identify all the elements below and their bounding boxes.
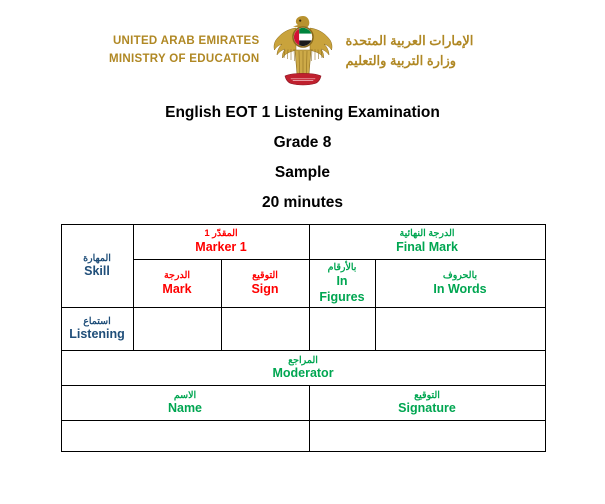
entry-moderator-name-cell[interactable] bbox=[61, 421, 309, 452]
marks-table: المهارة Skill المقدّر 1 Marker 1 الدرجة … bbox=[61, 224, 546, 452]
header-mark-ar: الدرجة bbox=[137, 270, 218, 282]
header-moderator-en: Moderator bbox=[65, 366, 542, 382]
table-row-listening: استماع Listening bbox=[61, 308, 545, 351]
header-in-words: بالحروف In Words bbox=[375, 260, 545, 308]
uae-emblem-icon bbox=[272, 14, 334, 88]
header-moderator-signature-ar: التوقيع bbox=[313, 390, 542, 402]
header-mark: الدرجة Mark bbox=[133, 260, 221, 308]
exam-grade: Grade 8 bbox=[0, 134, 605, 151]
header-marker-ar: المقدّر 1 bbox=[137, 228, 306, 240]
row-label-listening-en: Listening bbox=[65, 327, 130, 343]
header-moderator: المراجع Moderator bbox=[61, 351, 545, 386]
header-final-mark-en: Final Mark bbox=[313, 240, 542, 256]
header-skill-ar: المهارة bbox=[65, 253, 130, 265]
row-label-listening: استماع Listening bbox=[61, 308, 133, 351]
header-sign-ar: التوقيع bbox=[225, 270, 306, 282]
ministry-name-english: UNITED ARAB EMIRATES MINISTRY OF EDUCATI… bbox=[85, 33, 260, 69]
letterhead-ar-line2: وزارة التربية والتعليم bbox=[346, 51, 521, 71]
entry-moderator-signature-cell[interactable] bbox=[309, 421, 545, 452]
header-moderator-ar: المراجع bbox=[65, 355, 542, 367]
ministry-name-arabic: الإمارات العربية المتحدة وزارة التربية و… bbox=[346, 31, 521, 71]
header-moderator-name: الاسم Name bbox=[61, 386, 309, 421]
table-row-moderator-subheaders: الاسم Name التوقيع Signature bbox=[61, 386, 545, 421]
header-marker: المقدّر 1 Marker 1 bbox=[133, 225, 309, 260]
entry-in-figures-cell[interactable] bbox=[309, 308, 375, 351]
header-sign: التوقيع Sign bbox=[221, 260, 309, 308]
header-in-figures-ar: بالأرقام bbox=[313, 262, 372, 274]
exam-title: English EOT 1 Listening Examination bbox=[0, 104, 605, 121]
letterhead-ar-line1: الإمارات العربية المتحدة bbox=[346, 31, 521, 51]
exam-title-block: English EOT 1 Listening Examination Grad… bbox=[0, 104, 605, 211]
header-moderator-signature: التوقيع Signature bbox=[309, 386, 545, 421]
entry-in-words-cell[interactable] bbox=[375, 308, 545, 351]
table-row-moderator-entry bbox=[61, 421, 545, 452]
table-row-group-headers: المهارة Skill المقدّر 1 Marker 1 الدرجة … bbox=[61, 225, 545, 260]
header-skill: المهارة Skill bbox=[61, 225, 133, 308]
header-moderator-name-ar: الاسم bbox=[65, 390, 306, 402]
letterhead-en-line1: UNITED ARAB EMIRATES bbox=[85, 33, 260, 51]
header-in-words-ar: بالحروف bbox=[379, 270, 542, 282]
entry-mark-cell[interactable] bbox=[133, 308, 221, 351]
letterhead: UNITED ARAB EMIRATES MINISTRY OF EDUCATI… bbox=[0, 0, 605, 88]
table-row-moderator-header: المراجع Moderator bbox=[61, 351, 545, 386]
header-marker-en: Marker 1 bbox=[137, 240, 306, 256]
header-skill-en: Skill bbox=[65, 264, 130, 280]
header-in-words-en: In Words bbox=[379, 282, 542, 298]
exam-sample-label: Sample bbox=[0, 164, 605, 181]
marks-table-wrapper: المهارة Skill المقدّر 1 Marker 1 الدرجة … bbox=[61, 224, 545, 452]
letterhead-en-line2: MINISTRY OF EDUCATION bbox=[85, 51, 260, 69]
header-in-figures: بالأرقام In Figures bbox=[309, 260, 375, 308]
row-label-listening-ar: استماع bbox=[65, 316, 130, 328]
header-final-mark-ar: الدرجة النهائية bbox=[313, 228, 542, 240]
header-final-mark: الدرجة النهائية Final Mark bbox=[309, 225, 545, 260]
header-moderator-signature-en: Signature bbox=[313, 401, 542, 417]
header-sign-en: Sign bbox=[225, 282, 306, 298]
header-moderator-name-en: Name bbox=[65, 401, 306, 417]
header-mark-en: Mark bbox=[137, 282, 218, 298]
entry-sign-cell[interactable] bbox=[221, 308, 309, 351]
header-in-figures-en: In Figures bbox=[313, 274, 372, 305]
exam-duration: 20 minutes bbox=[0, 194, 605, 211]
table-row-sub-headers: الدرجة Mark التوقيع Sign بالأرقام In Fig… bbox=[61, 260, 545, 308]
